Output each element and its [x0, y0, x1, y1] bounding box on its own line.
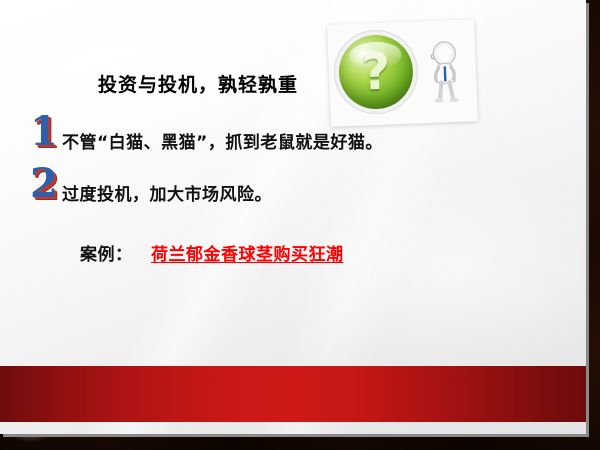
case-example-label: 案例： — [80, 245, 133, 265]
list-item-text: 过度投机，加大市场风险。 — [62, 180, 272, 205]
list-item-number: 2 — [30, 164, 58, 204]
thinking-person-figure-icon — [424, 40, 466, 105]
slide-stage: 投资与投机，孰轻孰重 ? 1 — [0, 0, 600, 450]
green-question-mark-badge-icon: ? — [338, 34, 415, 111]
page-title: 投资与投机，孰轻孰重 — [98, 70, 298, 97]
slide-sheet: 投资与投机，孰轻孰重 ? 1 — [0, 0, 586, 434]
list-item-text: 不管“白猫、黑猫”，抓到老鼠就是好猫。 — [62, 128, 383, 153]
illustration-card: ? — [327, 19, 478, 127]
footer-red-band — [0, 366, 586, 422]
case-example-link[interactable]: 荷兰郁金香球茎购买狂潮 — [151, 245, 344, 265]
list-item-number: 1 — [30, 112, 58, 152]
case-example-row: 案例： 荷兰郁金香球茎购买狂潮 — [80, 240, 343, 265]
